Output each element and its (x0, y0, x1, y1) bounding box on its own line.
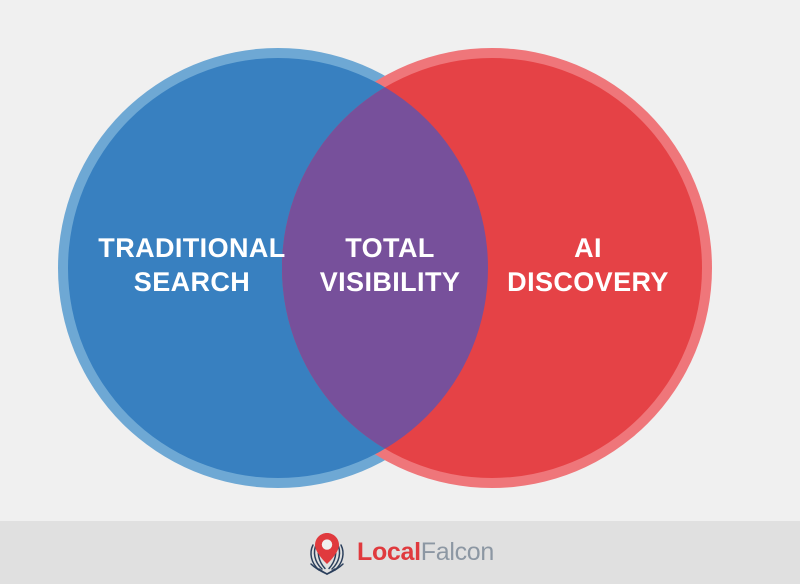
venn-diagram: TRADITIONAL SEARCH TOTAL VISIBILITY AI D… (0, 0, 800, 521)
logo-word-local: Local (357, 540, 421, 565)
location-pin-falcon-icon (306, 531, 348, 575)
footer-bar: LocalFalcon (0, 521, 800, 584)
venn-svg (0, 0, 800, 521)
logo-word-falcon: Falcon (421, 540, 494, 565)
localfalcon-logo[interactable]: LocalFalcon (306, 531, 494, 575)
diagram-canvas: TRADITIONAL SEARCH TOTAL VISIBILITY AI D… (0, 0, 800, 584)
logo-wordmark: LocalFalcon (357, 540, 494, 565)
